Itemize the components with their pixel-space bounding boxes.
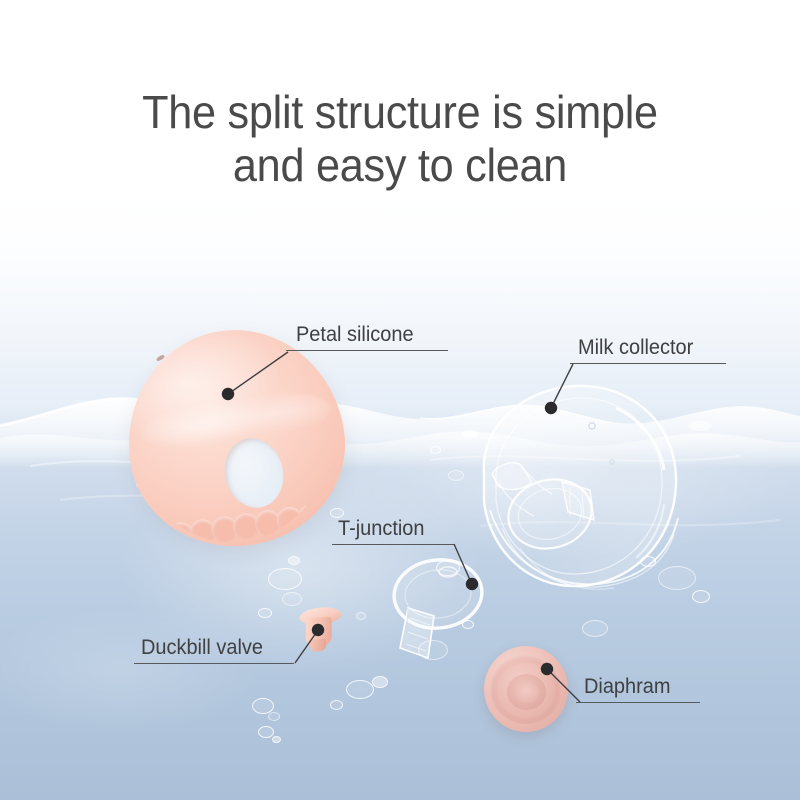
bubble bbox=[372, 676, 388, 688]
bubble bbox=[268, 568, 302, 590]
callout-dot-milk-collector bbox=[545, 402, 557, 414]
callout-dot-diaphram bbox=[541, 663, 553, 675]
bubble bbox=[356, 612, 366, 620]
bubble bbox=[448, 470, 464, 481]
callout-leader-petal-silicone bbox=[200, 344, 300, 414]
bubble bbox=[272, 736, 281, 743]
callout-underline-petal-silicone bbox=[286, 350, 448, 351]
callout-dot-t-junction bbox=[466, 578, 478, 590]
callout-leader-duckbill-valve bbox=[290, 612, 350, 672]
bubble bbox=[582, 620, 608, 637]
callout-underline-t-junction bbox=[332, 544, 454, 545]
callout-label-petal-silicone[interactable]: Petal silicone bbox=[296, 324, 414, 345]
callout-dot-duckbill-valve bbox=[312, 624, 324, 636]
bubble bbox=[258, 726, 274, 738]
bubble bbox=[346, 680, 374, 699]
bubble bbox=[288, 556, 300, 565]
product-exploded-view-scene: The split structure is simple and easy t… bbox=[0, 0, 800, 800]
bubble bbox=[268, 712, 280, 721]
page-title: The split structure is simple and easy t… bbox=[24, 86, 776, 193]
callout-leader-t-junction bbox=[440, 540, 510, 610]
bubble bbox=[258, 608, 272, 618]
callout-underline-duckbill-valve bbox=[134, 663, 294, 664]
callout-dot-petal-silicone bbox=[222, 388, 234, 400]
callout-label-milk-collector[interactable]: Milk collector bbox=[578, 337, 693, 358]
bubble bbox=[330, 700, 343, 710]
diaphram-center bbox=[515, 682, 539, 703]
callout-label-duckbill-valve[interactable]: Duckbill valve bbox=[141, 637, 263, 658]
bubble bbox=[430, 446, 441, 454]
bubble bbox=[692, 590, 710, 603]
callout-label-t-junction[interactable]: T-junction bbox=[338, 518, 424, 539]
callout-leader-diaphram bbox=[538, 664, 598, 724]
callout-leader-milk-collector bbox=[540, 358, 610, 428]
